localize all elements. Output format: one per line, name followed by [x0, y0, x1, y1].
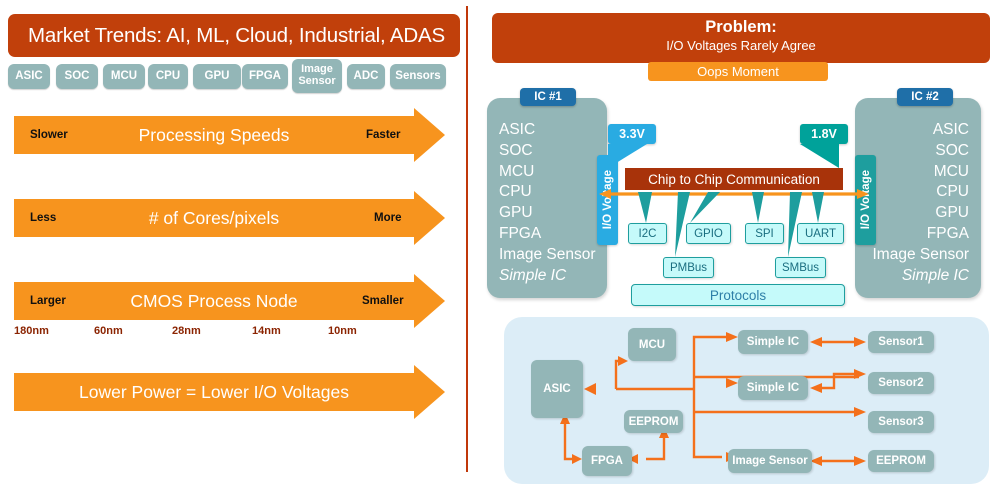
arrow-low-label: Slower	[30, 116, 68, 154]
arrow-head	[414, 191, 445, 245]
arrow-head	[414, 108, 445, 162]
arrow-high-label: Faster	[366, 116, 401, 154]
ic2-item-gpu: GPU	[873, 203, 970, 224]
arrow-low-label: Larger	[30, 282, 66, 320]
protocol-callout-gpio: GPIO	[686, 223, 731, 244]
oops-moment-badge: Oops Moment	[648, 62, 828, 81]
ic2-item-simple-ic: Simple IC	[873, 266, 970, 287]
system-block-mcu-1: MCU	[628, 328, 676, 361]
arrow-low-label: Less	[30, 199, 56, 237]
chip-asic: ASIC	[8, 64, 50, 89]
arrow-high-label: Smaller	[362, 282, 404, 320]
problem-subtitle: I/O Voltages Rarely Agree	[492, 38, 990, 54]
chip-to-chip-label: Chip to Chip Communication	[648, 172, 820, 187]
system-block-sensor2-8: Sensor2	[868, 372, 934, 394]
arrow-head	[414, 365, 445, 419]
chip-mcu: MCU	[103, 64, 145, 89]
ic1-tag: IC #1	[520, 88, 576, 106]
chip-fpga: FPGA	[242, 64, 288, 89]
process-node-60nm: 60nm	[94, 325, 123, 337]
protocol-callout-i2c: I2C	[628, 223, 667, 244]
ic1-item-simple-ic: Simple IC	[499, 266, 596, 287]
ic2-tag: IC #2	[897, 88, 953, 106]
trend-arrow-2: # of Cores/pixelsLessMore	[14, 199, 445, 237]
market-trends-banner: Market Trends: AI, ML, Cloud, Industrial…	[8, 14, 460, 57]
market-trends-title: Market Trends: AI, ML, Cloud, Industrial…	[28, 24, 445, 48]
market-trends-panel: Market Trends: AI, ML, Cloud, Industrial…	[0, 0, 467, 487]
panel-divider	[466, 6, 468, 472]
chip-sensors: Sensors	[390, 64, 446, 89]
arrow-body	[14, 199, 414, 237]
system-block-sensor1-7: Sensor1	[868, 331, 934, 353]
oops-moment-label: Oops Moment	[697, 64, 779, 79]
system-block-simple-ic-5: Simple IC	[738, 376, 808, 400]
system-block-image-sensor-6: Image Sensor	[728, 449, 812, 473]
chip-gpu: GPU	[193, 64, 241, 89]
system-block-fpga-3: FPGA	[582, 446, 632, 476]
arrow-body	[14, 282, 414, 320]
protocol-callout-pmbus: PMBus	[663, 257, 714, 278]
ic1-item-fpga: FPGA	[499, 224, 596, 245]
protocols-label: Protocols	[710, 288, 766, 303]
process-node-14nm: 14nm	[252, 325, 281, 337]
system-block-asic-0: ASIC	[531, 360, 583, 418]
chip-adc: ADC	[347, 64, 385, 89]
chip-cpu: CPU	[148, 64, 188, 89]
protocol-callout-spi: SPI	[745, 223, 784, 244]
trend-arrow-1: Processing SpeedsSlowerFaster	[14, 116, 445, 154]
trend-arrow-4: Lower Power = Lower I/O Voltages	[14, 373, 445, 411]
protocols-bar: Protocols	[631, 284, 845, 306]
arrow-high-label: More	[374, 199, 401, 237]
problem-banner: Problem: I/O Voltages Rarely Agree	[492, 13, 990, 63]
protocol-callout-uart: UART	[797, 223, 844, 244]
chip-image-sensor: Image Sensor	[292, 59, 342, 93]
protocol-callout-smbus: SMBus	[775, 257, 826, 278]
trend-arrow-3: CMOS Process NodeLargerSmaller	[14, 282, 445, 320]
arrow-head	[414, 274, 445, 328]
ic2-tag-label: IC #2	[911, 91, 939, 103]
arrow-body	[14, 116, 414, 154]
process-node-180nm: 180nm	[14, 325, 49, 337]
ic2-item-image-sensor: Image Sensor	[873, 245, 970, 266]
system-block-simple-ic-4: Simple IC	[738, 330, 808, 354]
process-node-28nm: 28nm	[172, 325, 201, 337]
process-node-10nm: 10nm	[328, 325, 357, 337]
system-block-sensor3-9: Sensor3	[868, 411, 934, 433]
ic1-tag-label: IC #1	[534, 91, 562, 103]
ic2-item-fpga: FPGA	[873, 224, 970, 245]
ic1-item-image-sensor: Image Sensor	[499, 245, 596, 266]
ic1-item-gpu: GPU	[499, 203, 596, 224]
problem-title: Problem:	[492, 17, 990, 38]
system-block-eeprom-2: EEPROM	[624, 410, 683, 433]
chip-soc: SOC	[56, 64, 98, 89]
arrow-body	[14, 373, 414, 411]
system-block-eeprom-10: EEPROM	[868, 450, 934, 472]
